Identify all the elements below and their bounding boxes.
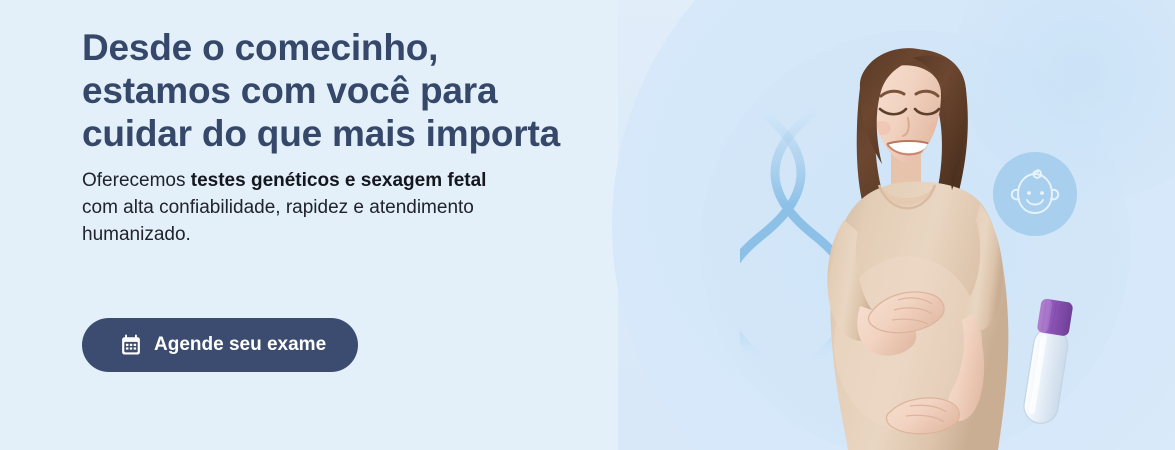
subcopy-highlight: testes genéticos e sexagem fetal <box>191 170 487 191</box>
baby-face-icon <box>1006 165 1064 223</box>
blood-collection-tube-icon <box>1013 292 1085 432</box>
subcopy-line-3: humanizado. <box>82 221 562 248</box>
schedule-exam-label: Agende seu exame <box>154 334 326 356</box>
promo-banner: Desde o comecinho, estamos com você para… <box>0 0 1175 450</box>
banner-content: Desde o comecinho, estamos com você para… <box>82 0 622 450</box>
subcopy-line-2: com alta confiabilidade, rapidez e atend… <box>82 194 562 221</box>
headline-line-1: Desde o comecinho, <box>82 26 612 69</box>
subcopy-line-1: Oferecemos testes genéticos e sexagem fe… <box>82 167 562 194</box>
page-title: Desde o comecinho, estamos com você para… <box>82 26 612 155</box>
calendar-icon <box>120 334 142 356</box>
baby-face-badge <box>993 152 1077 236</box>
hero-image-composition <box>618 0 1175 450</box>
banner-subcopy: Oferecemos testes genéticos e sexagem fe… <box>82 167 562 248</box>
headline-line-2: estamos com você para <box>82 69 612 112</box>
subcopy-prefix: Oferecemos <box>82 170 191 191</box>
headline-line-3: cuidar do que mais importa <box>82 112 612 155</box>
schedule-exam-button[interactable]: Agende seu exame <box>82 318 358 372</box>
